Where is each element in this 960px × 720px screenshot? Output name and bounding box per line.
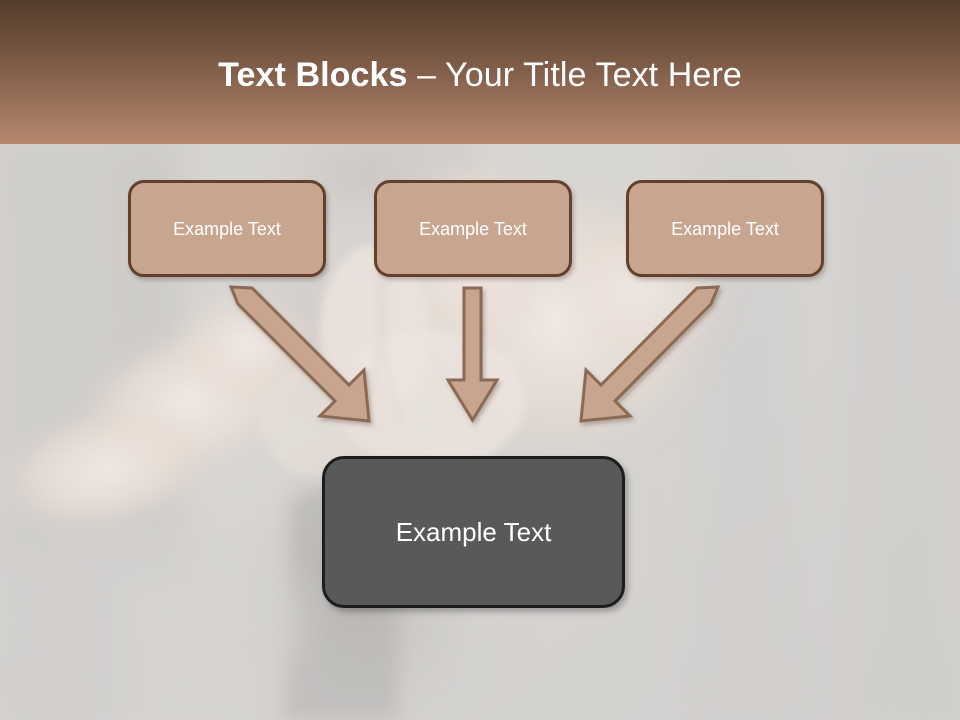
title-light-part: Your Title Text Here bbox=[445, 56, 742, 94]
title-bold-part: Text Blocks bbox=[218, 56, 407, 94]
summary-text-block[interactable]: Example Text bbox=[322, 456, 625, 608]
text-block-1-label: Example Text bbox=[173, 218, 281, 240]
summary-text-block-label: Example Text bbox=[396, 517, 552, 547]
text-block-2[interactable]: Example Text bbox=[374, 180, 572, 277]
text-block-3[interactable]: Example Text bbox=[626, 180, 824, 277]
title-separator: – bbox=[408, 56, 446, 94]
title-banner: Text Blocks – Your Title Text Here bbox=[0, 0, 960, 144]
text-block-1[interactable]: Example Text bbox=[128, 180, 326, 277]
page-title: Text Blocks – Your Title Text Here bbox=[0, 55, 960, 95]
text-block-3-label: Example Text bbox=[671, 218, 779, 240]
text-block-2-label: Example Text bbox=[419, 218, 527, 240]
slide-canvas: Text Blocks – Your Title Text Here Examp… bbox=[0, 0, 960, 720]
